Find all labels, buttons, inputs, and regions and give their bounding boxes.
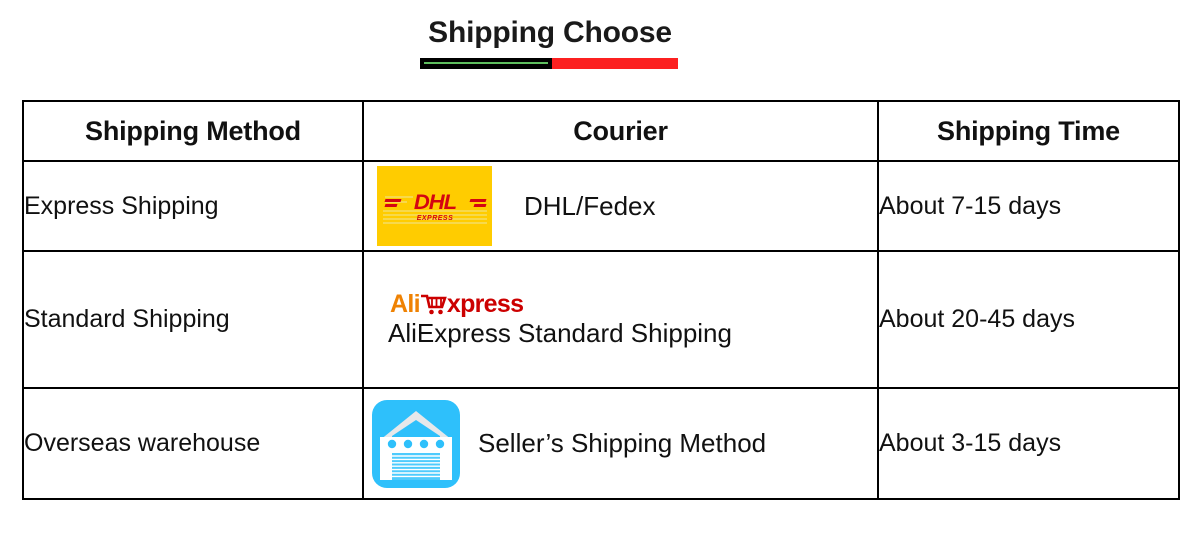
dhl-express-subtext: EXPRESS <box>407 215 463 223</box>
aliexpress-logo-xpress: xpress <box>447 291 523 317</box>
title-underline-bar <box>420 58 678 69</box>
shipping-options-table: Shipping Method Courier Shipping Time Ex… <box>22 100 1180 500</box>
dhl-wordmark: DHL <box>394 194 476 212</box>
cell-shipping-time-3: About 3-15 days <box>878 388 1179 499</box>
header-shipping-time: Shipping Time <box>878 101 1179 161</box>
aliexpress-logo: Ali xpress <box>390 291 523 317</box>
cell-courier-3: Seller’s Shipping Method <box>363 388 878 499</box>
underline-red-segment <box>552 58 678 69</box>
aliexpress-logo-ali: Ali <box>390 291 420 317</box>
cell-shipping-method-3: Overseas warehouse <box>23 388 363 499</box>
courier-label-1: DHL/Fedex <box>524 191 656 222</box>
underline-dark-segment <box>420 58 552 69</box>
header-courier: Courier <box>363 101 878 161</box>
courier-label-3: Seller’s Shipping Method <box>478 428 766 459</box>
courier-label-2: AliExpress Standard Shipping <box>388 318 732 349</box>
cell-courier-1: DHL EXPRESS DHL/Fedex <box>363 161 878 251</box>
table-header-row: Shipping Method Courier Shipping Time <box>23 101 1179 161</box>
header-shipping-method: Shipping Method <box>23 101 363 161</box>
page-title: Shipping Choose <box>0 14 1100 52</box>
cell-shipping-method-1: Express Shipping <box>23 161 363 251</box>
table-row: Overseas warehouse <box>23 388 1179 499</box>
cell-courier-2: Ali xpress AliExpress Standard Shipping <box>363 251 878 388</box>
table-row: Express Shipping <box>23 161 1179 251</box>
courier-inline-wrap-3: Seller’s Shipping Method <box>364 400 877 488</box>
dhl-express-logo: DHL EXPRESS <box>377 166 492 246</box>
cell-shipping-time-2: About 20-45 days <box>878 251 1179 388</box>
courier-inline-wrap-1: DHL EXPRESS DHL/Fedex <box>364 166 877 246</box>
cell-shipping-method-2: Standard Shipping <box>23 251 363 388</box>
cell-shipping-time-1: About 7-15 days <box>878 161 1179 251</box>
title-block: Shipping Choose <box>0 0 1200 90</box>
warehouse-icon <box>372 400 460 488</box>
courier-stack-wrap-2: Ali xpress AliExpress Standard Shipping <box>364 291 877 349</box>
underline-green-line <box>424 62 548 64</box>
shopping-cart-icon <box>421 293 447 315</box>
table-row: Standard Shipping Ali xp <box>23 251 1179 388</box>
